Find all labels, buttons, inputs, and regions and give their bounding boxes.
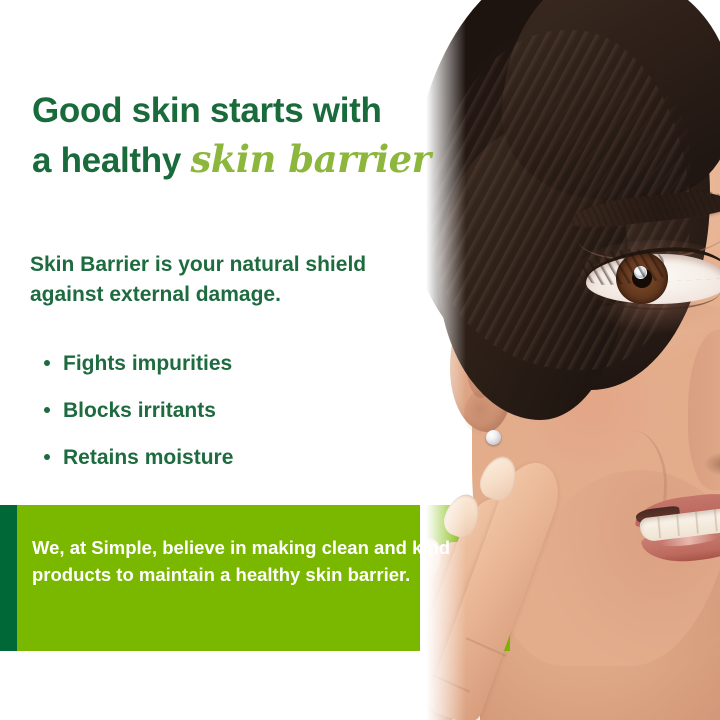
headline-plain-text: a healthy — [32, 141, 190, 180]
banner-statement-text: We, at Simple, believe in making clean a… — [32, 534, 452, 589]
bullet-dot-icon — [44, 454, 50, 460]
headline-block: Good skin starts with a healthy skin bar… — [32, 88, 452, 185]
subheadline-text: Skin Barrier is your natural shield agai… — [30, 250, 430, 310]
pearl-earring-icon — [486, 430, 501, 445]
headline-script-text: skin barrier — [190, 137, 430, 181]
bullet-dot-icon — [44, 407, 50, 413]
model-portrait-photo — [420, 0, 720, 720]
benefit-label: Fights impurities — [63, 352, 232, 376]
benefits-list: Fights impurities Blocks irritants Retai… — [44, 352, 384, 493]
banner-accent-bar — [0, 505, 17, 651]
list-item: Blocks irritants — [44, 399, 384, 423]
list-item: Retains moisture — [44, 446, 384, 470]
list-item: Fights impurities — [44, 352, 384, 376]
headline-line-2: a healthy skin barrier — [32, 135, 452, 185]
benefit-label: Retains moisture — [63, 446, 233, 470]
skincare-ad-creative: Good skin starts with a healthy skin bar… — [0, 0, 720, 720]
benefit-label: Blocks irritants — [63, 399, 216, 423]
headline-line-1: Good skin starts with — [32, 88, 452, 135]
bullet-dot-icon — [44, 360, 50, 366]
